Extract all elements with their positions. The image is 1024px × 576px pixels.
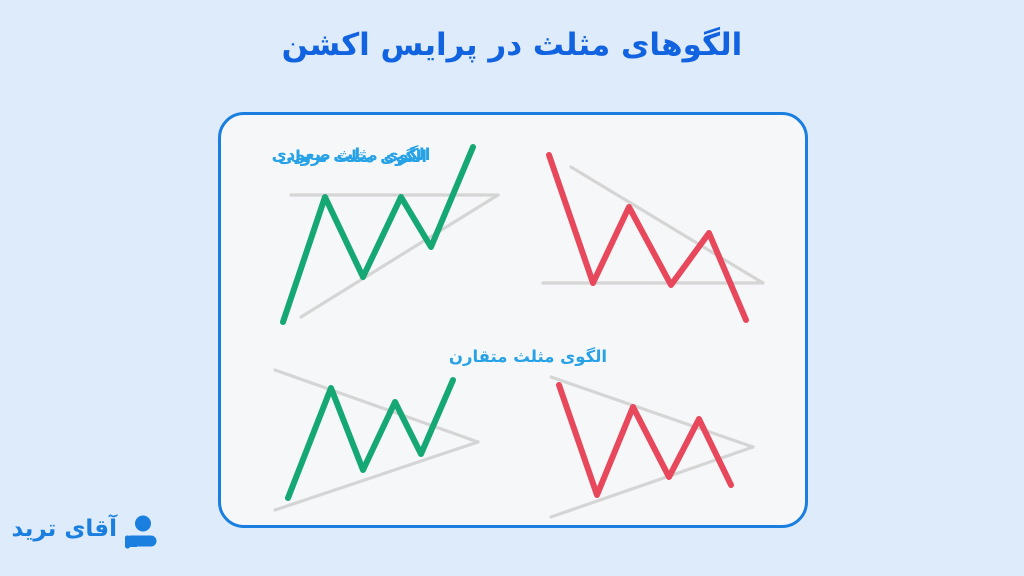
- price-path: [288, 380, 453, 498]
- price-path: [559, 385, 731, 495]
- pattern-ascending-triangle: [273, 137, 513, 337]
- page-title: الگوهای مثلث در پرایس اکشن: [0, 25, 1024, 65]
- descending-triangle-chart: [541, 145, 786, 350]
- pattern-symmetrical-triangle-bearish: [541, 355, 786, 525]
- price-path: [549, 155, 746, 320]
- resistance-trendline: [275, 370, 478, 442]
- pattern-symmetrical-triangle-bullish: [273, 350, 513, 520]
- screenshot-canvas: الگوهای مثلث در پرایس اکشن الگوی مثلث صع…: [0, 0, 1024, 576]
- person-icon: [121, 514, 163, 550]
- symmetrical-triangle-bullish-chart: [273, 350, 513, 525]
- price-path: [283, 147, 473, 322]
- resistance-trendline: [551, 377, 753, 447]
- brand-wordmark: آقای ترید: [11, 516, 117, 542]
- symmetrical-triangle-bearish-chart: [541, 355, 786, 525]
- brand-logo: آقای ترید: [18, 506, 163, 558]
- pattern-label-descending-triangle: الگوی مثلث نزولی: [245, 147, 460, 166]
- ascending-triangle-chart: [273, 137, 513, 337]
- pattern-descending-triangle: [541, 145, 786, 350]
- illustration-card-inner: الگوی مثلث صعودی الگوی مثلث نزولی الگوی: [221, 115, 805, 525]
- illustration-card: الگوی مثلث صعودی الگوی مثلث نزولی الگوی: [218, 112, 808, 528]
